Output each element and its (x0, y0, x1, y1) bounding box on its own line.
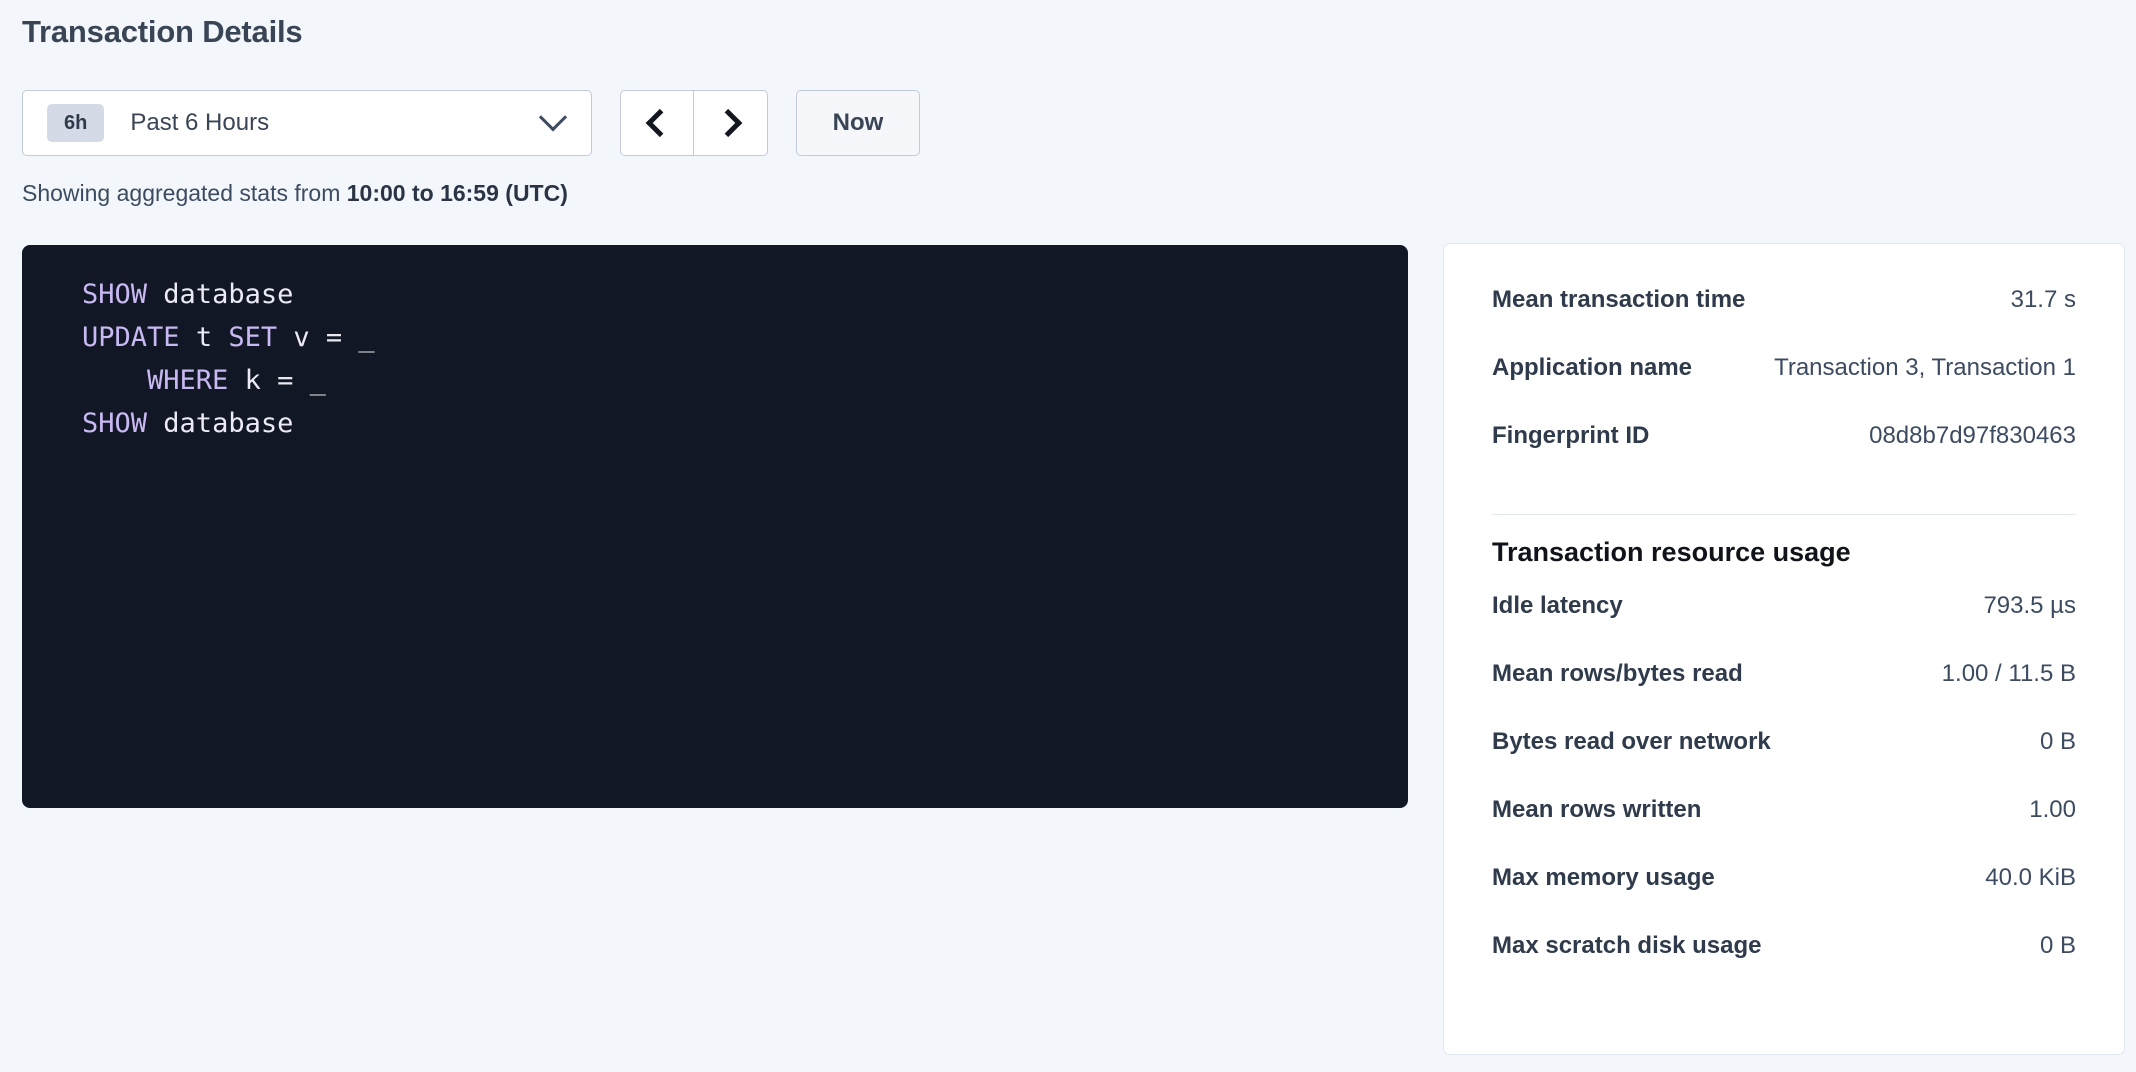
stat-label: Max scratch disk usage (1492, 932, 1761, 960)
page-title: Transaction Details (22, 14, 302, 50)
sql-code-line: SHOW database (22, 273, 1408, 316)
sql-token-op (228, 365, 244, 396)
sql-token-op: = _ (310, 322, 375, 353)
resource-usage-title: Transaction resource usage (1492, 537, 2076, 568)
sql-statement-block[interactable]: SHOW databaseUPDATE t SET v = _ WHERE k … (22, 245, 1408, 808)
sql-token-kw: SHOW (82, 279, 147, 310)
time-range-select[interactable]: 6h Past 6 Hours (22, 90, 592, 156)
aggregation-range-prefix: Showing aggregated stats from (22, 180, 347, 206)
stat-row: Fingerprint ID08d8b7d97f830463 (1492, 422, 2076, 490)
stat-row: Idle latency793.5 µs (1492, 592, 2076, 660)
stat-label: Mean transaction time (1492, 286, 1745, 314)
sql-code-line: WHERE k = _ (22, 359, 1408, 402)
stat-label: Bytes read over network (1492, 728, 1771, 756)
stat-value: 1.00 / 11.5 B (1942, 660, 2076, 688)
sql-token-op (147, 279, 163, 310)
previous-period-button[interactable] (620, 90, 694, 156)
sql-token-op (147, 408, 163, 439)
stat-row: Max memory usage40.0 KiB (1492, 864, 2076, 932)
stat-row: Bytes read over network0 B (1492, 728, 2076, 796)
sql-code-lines: SHOW databaseUPDATE t SET v = _ WHERE k … (22, 273, 1408, 445)
stat-row: Mean transaction time31.7 s (1492, 286, 2076, 354)
next-period-button[interactable] (694, 90, 768, 156)
transaction-stats-panel: Mean transaction time31.7 sApplication n… (1443, 243, 2125, 1055)
stat-label: Fingerprint ID (1492, 422, 1649, 450)
stat-value: 1.00 (2029, 796, 2076, 824)
stat-label: Application name (1492, 354, 1692, 382)
stat-value: 793.5 µs (1983, 592, 2076, 620)
time-range-toolbar: 6h Past 6 Hours Now (22, 90, 920, 156)
chevron-down-icon (539, 103, 567, 131)
sql-token-kw: WHERE (147, 365, 228, 396)
sql-token-id: database (163, 408, 293, 439)
stat-row: Mean rows/bytes read1.00 / 11.5 B (1492, 660, 2076, 728)
panel-divider (1492, 514, 2076, 515)
now-button[interactable]: Now (796, 90, 920, 156)
stat-row: Max scratch disk usage0 B (1492, 932, 2076, 1000)
time-range-badge: 6h (47, 104, 104, 142)
stat-value: 0 B (2040, 728, 2076, 756)
chevron-left-icon (646, 109, 674, 137)
stat-row: Mean rows written1.00 (1492, 796, 2076, 864)
sql-token-id: t (196, 322, 212, 353)
sql-token-kw: UPDATE (82, 322, 180, 353)
sql-code-line: SHOW database (22, 402, 1408, 445)
chevron-right-icon (714, 109, 742, 137)
resource-usage-list: Idle latency793.5 µsMean rows/bytes read… (1492, 592, 2076, 1000)
sql-token-op (180, 322, 196, 353)
stat-value: 0 B (2040, 932, 2076, 960)
sql-token-op (212, 322, 228, 353)
stat-row: Application nameTransaction 3, Transacti… (1492, 354, 2076, 422)
stat-label: Mean rows/bytes read (1492, 660, 1743, 688)
stat-label: Mean rows written (1492, 796, 1701, 824)
sql-code-line: UPDATE t SET v = _ (22, 316, 1408, 359)
stat-value: Transaction 3, Transaction 1 (1774, 354, 2076, 382)
sql-token-id: k (245, 365, 261, 396)
sql-token-op: = _ (261, 365, 326, 396)
sql-token-kw: SET (228, 322, 277, 353)
sql-token-op (82, 365, 147, 396)
sql-token-id: database (163, 279, 293, 310)
stat-label: Max memory usage (1492, 864, 1715, 892)
transaction-summary-list: Mean transaction time31.7 sApplication n… (1492, 286, 2076, 490)
stat-label: Idle latency (1492, 592, 1623, 620)
time-nav-group (620, 90, 768, 156)
stat-value: 40.0 KiB (1985, 864, 2076, 892)
time-range-label: Past 6 Hours (130, 109, 543, 137)
sql-token-id: v (293, 322, 309, 353)
sql-token-op (277, 322, 293, 353)
sql-token-kw: SHOW (82, 408, 147, 439)
transaction-details-page: Transaction Details 6h Past 6 Hours Now … (0, 0, 2136, 1072)
aggregation-range-value: 10:00 to 16:59 (UTC) (347, 180, 568, 206)
aggregation-range-text: Showing aggregated stats from 10:00 to 1… (22, 180, 568, 207)
stat-value: 08d8b7d97f830463 (1869, 422, 2076, 450)
stat-value: 31.7 s (2011, 286, 2076, 314)
